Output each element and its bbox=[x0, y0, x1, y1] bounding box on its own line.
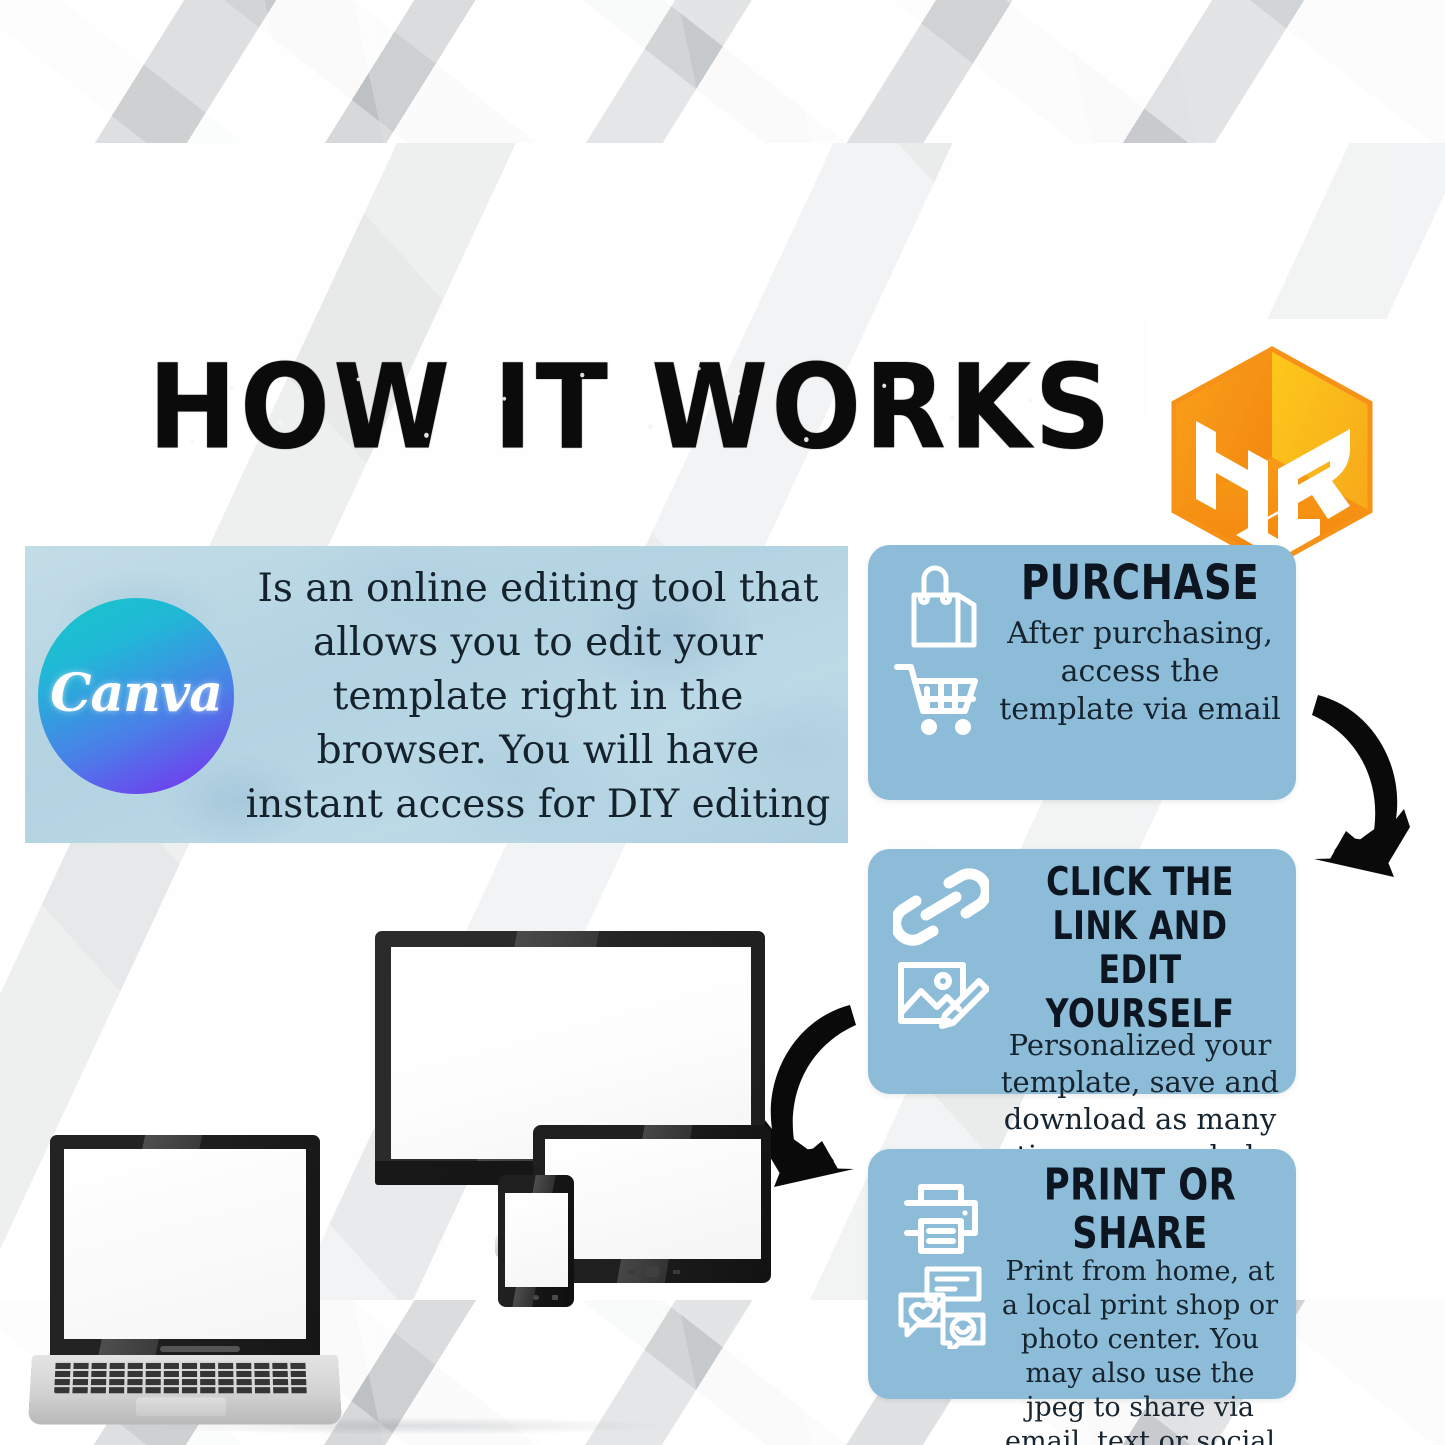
content-panel: HOW IT WORKS bbox=[0, 143, 1445, 1300]
step-1-body: PURCHASE After purchasing, access the te… bbox=[996, 557, 1284, 729]
shopping-cart-icon bbox=[893, 659, 989, 737]
canva-logo: Canva bbox=[38, 598, 234, 794]
paper-texture-top bbox=[0, 0, 1445, 143]
step-1-heading: PURCHASE bbox=[1013, 557, 1266, 610]
step-1-icons bbox=[882, 561, 1000, 737]
smartphone-screen bbox=[505, 1193, 568, 1287]
smartphone-button-menu bbox=[552, 1295, 558, 1300]
step-3-icons bbox=[882, 1165, 1000, 1349]
step-2-body: CLICK THE LINK AND EDIT YOURSELF Persona… bbox=[996, 861, 1284, 1175]
brand-logo-card bbox=[1148, 319, 1397, 581]
step-3-text: Print from home, at a local print shop o… bbox=[996, 1255, 1284, 1445]
step-3-heading: PRINT OR SHARE bbox=[1013, 1161, 1266, 1258]
laptop-lid bbox=[50, 1135, 320, 1357]
step-card-purchase: PURCHASE After purchasing, access the te… bbox=[868, 545, 1296, 800]
step-3-body: PRINT OR SHARE Print from home, at a loc… bbox=[996, 1161, 1284, 1445]
step-1-text: After purchasing, access the template vi… bbox=[996, 615, 1284, 729]
laptop-base bbox=[28, 1355, 342, 1424]
device-mockup-group bbox=[30, 913, 780, 1313]
tablet-button-right bbox=[673, 1270, 680, 1274]
chain-link-icon bbox=[893, 865, 989, 949]
smartphone-button-home bbox=[533, 1295, 539, 1300]
smartphone-button-back bbox=[514, 1295, 520, 1300]
page-title: HOW IT WORKS bbox=[148, 349, 1114, 465]
canva-description: Is an online editing tool that allows yo… bbox=[243, 562, 833, 832]
laptop-screen bbox=[64, 1149, 306, 1339]
social-share-icon bbox=[893, 1263, 989, 1349]
step-2-heading: CLICK THE LINK AND EDIT YOURSELF bbox=[1013, 861, 1266, 1037]
hrg-cube-icon bbox=[1160, 333, 1385, 565]
shopping-bag-icon bbox=[898, 561, 984, 653]
tablet-screen bbox=[545, 1139, 761, 1259]
laptop-trackpad bbox=[136, 1397, 226, 1416]
how-it-works-poster: HOW IT WORKS bbox=[0, 0, 1445, 1445]
step-2-icons bbox=[882, 865, 1000, 1039]
tablet-button-left bbox=[628, 1270, 635, 1274]
laptop-keyboard bbox=[54, 1361, 308, 1393]
arrow-purchase-to-edit-icon bbox=[1300, 681, 1420, 896]
step-card-edit: CLICK THE LINK AND EDIT YOURSELF Persona… bbox=[868, 849, 1296, 1094]
smartphone bbox=[498, 1175, 574, 1307]
image-edit-icon bbox=[893, 955, 989, 1039]
printer-icon bbox=[895, 1165, 987, 1257]
tablet-home-button bbox=[645, 1266, 659, 1277]
laptop-hinge bbox=[160, 1346, 240, 1352]
canva-wordmark: Canva bbox=[38, 663, 234, 724]
canva-info-panel: Canva Is an online editing tool that all… bbox=[25, 546, 848, 843]
step-card-print: PRINT OR SHARE Print from home, at a loc… bbox=[868, 1149, 1296, 1399]
